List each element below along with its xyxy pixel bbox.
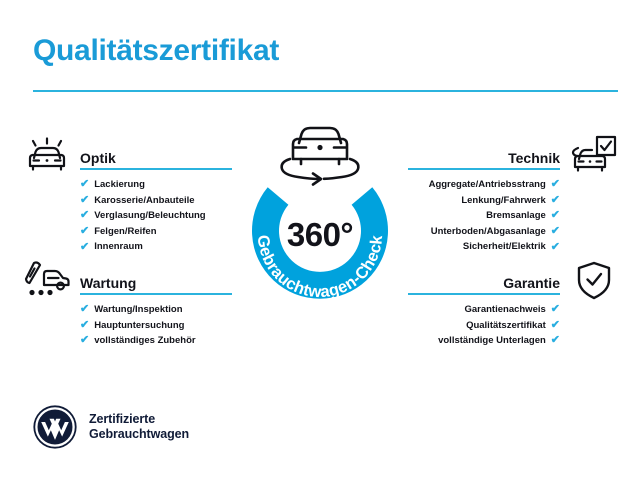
check-icon: ✔: [80, 335, 89, 346]
check-icon: ✔: [80, 226, 89, 237]
list-item: ✔Felgen/Reifen: [80, 224, 232, 240]
list-item-label: Aggregate/Antriebsstrang: [429, 177, 546, 193]
list-item: ✔Karosserie/Anbauteile: [80, 193, 232, 209]
list-item-label: vollständiges Zubehör: [94, 333, 195, 349]
vw-footer-text: Zertifizierte Gebrauchtwagen: [89, 412, 189, 442]
section-wartung: Wartung ✔Wartung/Inspektion ✔Hauptunters…: [80, 265, 232, 349]
check-icon: ✔: [551, 304, 560, 315]
list-item-label: Lackierung: [94, 177, 145, 193]
list-item-label: Bremsanlage: [486, 208, 546, 224]
list-item-label: Unterboden/Abgasanlage: [431, 224, 546, 240]
list-item: Aggregate/Antriebsstrang✔: [408, 177, 560, 193]
list-item: Lenkung/Fahrwerk✔: [408, 193, 560, 209]
check-icon: ✔: [80, 179, 89, 190]
list-item: ✔Innenraum: [80, 239, 232, 255]
header-divider: [33, 90, 618, 92]
section-header: Optik: [80, 140, 232, 170]
section-header: Wartung: [80, 265, 232, 295]
section-title-technik: Technik: [508, 150, 560, 166]
list-item: Sicherheit/Elektrik✔: [408, 239, 560, 255]
list-item: Qualitätszertifikat✔: [408, 318, 560, 334]
section-divider: [408, 293, 560, 295]
list-item-label: Verglasung/Beleuchtung: [94, 208, 205, 224]
section-technik: Technik Aggregate/Antriebsstrang✔ Lenkun…: [408, 140, 560, 255]
list-item-label: vollständige Unterlagen: [438, 333, 546, 349]
checklist-optik: ✔Lackierung ✔Karosserie/Anbauteile ✔Verg…: [80, 177, 232, 255]
list-item: ✔Verglasung/Beleuchtung: [80, 208, 232, 224]
list-item-label: Garantienachweis: [464, 302, 545, 318]
list-item: Bremsanlage✔: [408, 208, 560, 224]
vw-footer-line1: Zertifizierte: [89, 412, 189, 427]
check-icon: ✔: [551, 195, 560, 206]
car-rotate-icon: [268, 112, 372, 186]
section-divider: [408, 168, 560, 170]
section-header: Technik: [408, 140, 560, 170]
car-wrench-icon: [20, 259, 72, 306]
list-item-label: Sicherheit/Elektrik: [463, 239, 546, 255]
check-icon: ✔: [80, 195, 89, 206]
page-title: Qualitätszertifikat: [33, 34, 279, 68]
badge-center-label: 360°: [225, 216, 415, 254]
check-icon: ✔: [551, 179, 560, 190]
check-icon: ✔: [80, 242, 89, 253]
list-item: ✔Wartung/Inspektion: [80, 302, 232, 318]
check-icon: ✔: [551, 335, 560, 346]
section-optik: Optik ✔Lackierung ✔Karosserie/Anbauteile…: [80, 140, 232, 255]
certificate-page: Qualitätszertifikat: [0, 0, 640, 480]
car-checkbox-icon: [570, 134, 618, 181]
car-shine-icon: [22, 134, 72, 181]
list-item: vollständige Unterlagen✔: [408, 333, 560, 349]
shield-check-icon: [574, 260, 614, 307]
list-item: ✔Hauptuntersuchung: [80, 318, 232, 334]
checklist-garantie: Garantienachweis✔ Qualitätszertifikat✔ v…: [408, 302, 560, 349]
list-item-label: Qualitätszertifikat: [466, 318, 546, 334]
check-icon: ✔: [80, 320, 89, 331]
section-header: Garantie: [408, 265, 560, 295]
list-item-label: Wartung/Inspektion: [94, 302, 182, 318]
360-check-badge: Gebrauchtwagen-Check 360°: [225, 140, 415, 330]
section-garantie: Garantie Garantienachweis✔ Qualitätszert…: [408, 265, 560, 349]
checklist-wartung: ✔Wartung/Inspektion ✔Hauptuntersuchung ✔…: [80, 302, 232, 349]
list-item-label: Karosserie/Anbauteile: [94, 193, 194, 209]
section-title-optik: Optik: [80, 150, 116, 166]
section-title-garantie: Garantie: [503, 275, 560, 291]
list-item-label: Lenkung/Fahrwerk: [461, 193, 545, 209]
list-item: Unterboden/Abgasanlage✔: [408, 224, 560, 240]
vw-footer: Zertifizierte Gebrauchtwagen: [32, 404, 189, 450]
list-item-label: Innenraum: [94, 239, 143, 255]
list-item: ✔vollständiges Zubehör: [80, 333, 232, 349]
check-icon: ✔: [551, 242, 560, 253]
vw-footer-line2: Gebrauchtwagen: [89, 427, 189, 442]
list-item-label: Felgen/Reifen: [94, 224, 156, 240]
check-icon: ✔: [551, 210, 560, 221]
check-icon: ✔: [80, 210, 89, 221]
list-item-label: Hauptuntersuchung: [94, 318, 184, 334]
list-item: ✔Lackierung: [80, 177, 232, 193]
checklist-technik: Aggregate/Antriebsstrang✔ Lenkung/Fahrwe…: [408, 177, 560, 255]
section-divider: [80, 293, 232, 295]
section-divider: [80, 168, 232, 170]
check-icon: ✔: [80, 304, 89, 315]
check-icon: ✔: [551, 226, 560, 237]
check-icon: ✔: [551, 320, 560, 331]
section-title-wartung: Wartung: [80, 275, 136, 291]
list-item: Garantienachweis✔: [408, 302, 560, 318]
vw-logo: [32, 404, 78, 450]
